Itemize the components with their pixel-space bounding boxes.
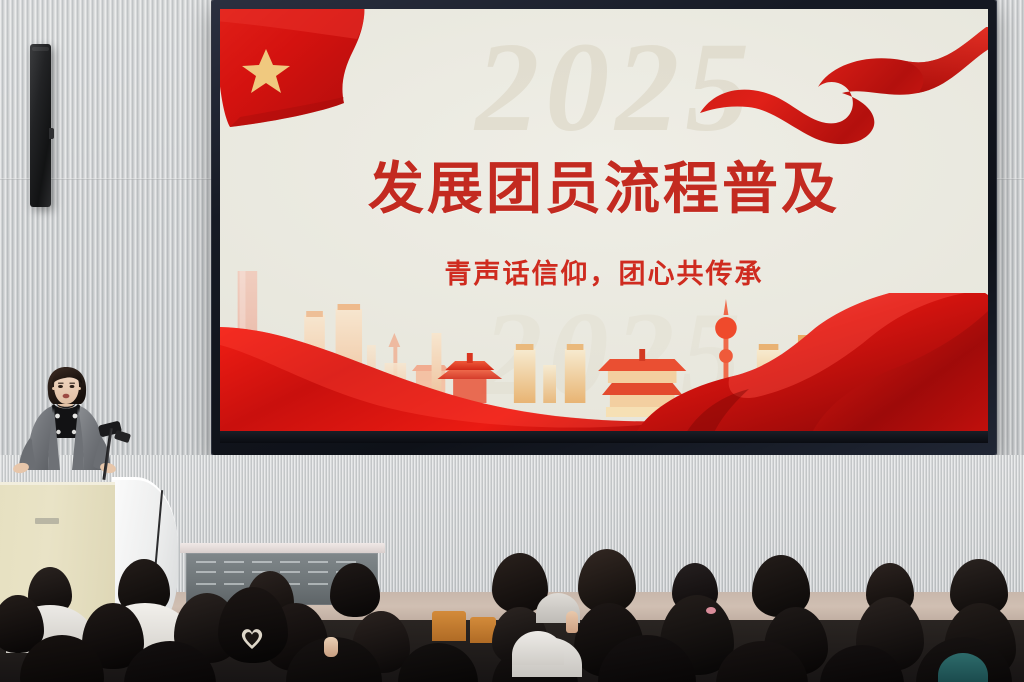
raised-hand	[324, 637, 338, 657]
presentation-slide: 2025 2025	[220, 9, 988, 443]
audience-shoulders	[512, 631, 564, 665]
red-ribbon-swoosh-icon	[692, 27, 988, 157]
display-bottom-bezel	[220, 431, 988, 443]
hair-tie	[706, 607, 716, 614]
screenshot-root: 2025 2025	[0, 0, 1024, 682]
wall-speaker-icon	[30, 44, 51, 207]
red-silk-wave-icon	[220, 293, 988, 443]
heart-hairclip-icon	[239, 627, 265, 651]
audience-head	[398, 643, 478, 682]
wall-speaker-bracket	[49, 128, 54, 139]
slide-title: 发展团员流程普及	[220, 160, 988, 219]
lectern-nameplate	[35, 518, 59, 524]
chinese-flag-icon	[220, 9, 394, 151]
audience	[0, 545, 1024, 682]
display-panel: 2025 2025	[220, 9, 988, 443]
chair	[432, 611, 466, 641]
audience-head	[330, 563, 380, 617]
raised-hand	[566, 611, 578, 633]
wall-display[interactable]: 2025 2025	[212, 0, 996, 455]
slide-subtitle: 青声话信仰，团心共传承	[220, 252, 988, 291]
